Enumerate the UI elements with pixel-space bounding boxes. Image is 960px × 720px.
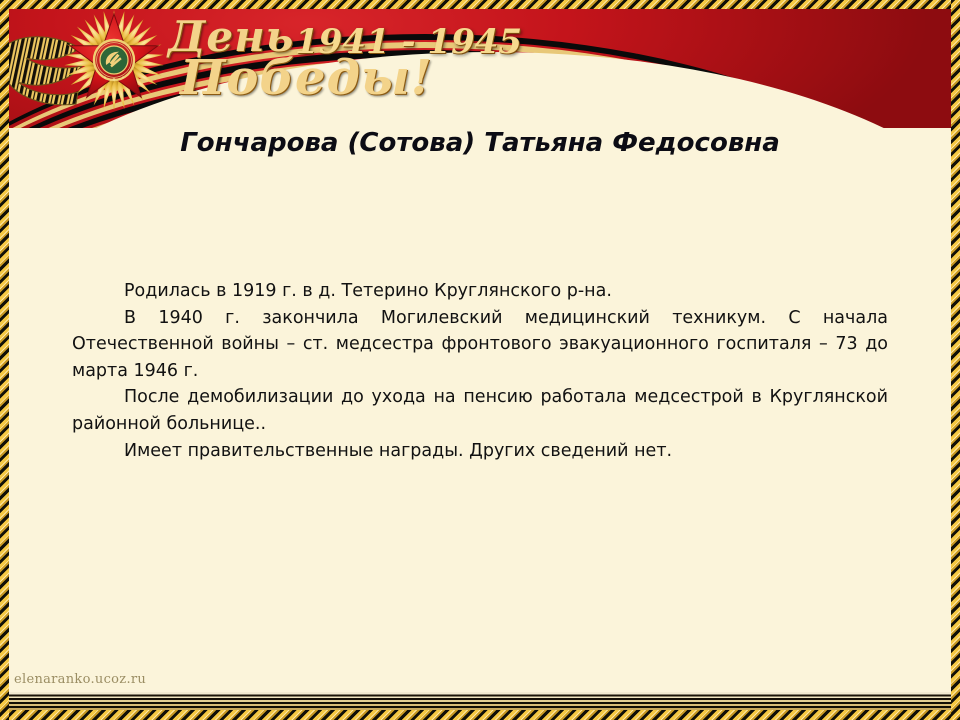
order-of-patriotic-war-icon xyxy=(62,8,166,112)
paragraph-post-war: После демобилизации до ухода на пенсию р… xyxy=(72,384,888,437)
banner-years: 1941 - 1945 xyxy=(295,22,522,62)
border-bottom xyxy=(0,710,960,720)
watermark-text: elenaranko.ucoz.ru xyxy=(14,672,146,687)
border-left xyxy=(0,0,9,720)
border-right xyxy=(951,0,960,720)
biography-text: Родилась в 1919 г. в д. Тетерино Круглян… xyxy=(72,278,888,464)
paragraph-war-service: В 1940 г. закончила Могилевский медицинс… xyxy=(72,305,888,385)
paragraph-birth: Родилась в 1919 г. в д. Тетерино Круглян… xyxy=(72,278,888,305)
page-title: Гончарова (Сотова) Татьяна Федосовна xyxy=(0,128,960,158)
victory-day-banner: День Победы! 1941 - 1945 xyxy=(0,0,960,128)
footer-stripes-icon xyxy=(0,692,960,710)
border-top xyxy=(0,0,960,9)
paragraph-awards: Имеет правительственные награды. Других … xyxy=(72,438,888,465)
presentation-slide: День Победы! 1941 - 1945 Гончарова (Сото… xyxy=(0,0,960,720)
